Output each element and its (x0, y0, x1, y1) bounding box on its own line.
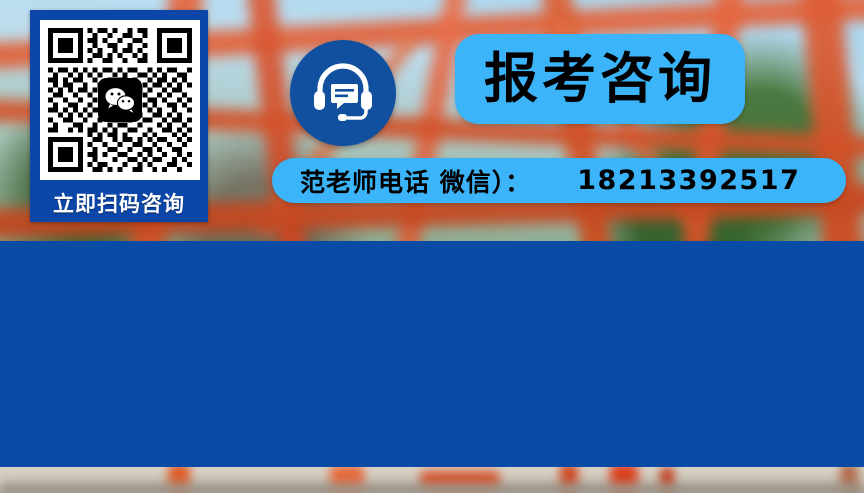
qr-code-card[interactable]: 立即扫码咨询 (30, 10, 208, 222)
consult-title-text: 报考咨询 (484, 52, 716, 106)
crane-beam (799, 0, 864, 243)
crane-beam (393, 0, 470, 243)
consult-title-pill[interactable]: 报考咨询 (455, 34, 745, 124)
headset-support-badge (290, 40, 396, 146)
wechat-glyph (104, 87, 136, 113)
contact-label: 范老师电话 微信）： (300, 163, 531, 199)
promo-poster: 立即扫码咨询 报考咨询 范老师电话 微信）： 18213392517 特种作业 … (0, 0, 864, 493)
certificate-categories-banner: 特种作业 ： 电工证、焊工证、高处作业证、制冷作业、安全员证等 特种设备 ： 叉… (0, 241, 864, 467)
headset-support-icon (310, 62, 376, 124)
qr-code-image[interactable] (40, 20, 200, 180)
strip-ground (0, 483, 864, 493)
bottom-photo-strip (0, 467, 864, 493)
contact-phone-number[interactable]: 18213392517 (577, 165, 800, 196)
contact-phone-pill[interactable]: 范老师电话 微信）： 18213392517 (272, 158, 846, 203)
wechat-icon (98, 78, 142, 122)
qr-scan-label: 立即扫码咨询 (33, 185, 205, 221)
